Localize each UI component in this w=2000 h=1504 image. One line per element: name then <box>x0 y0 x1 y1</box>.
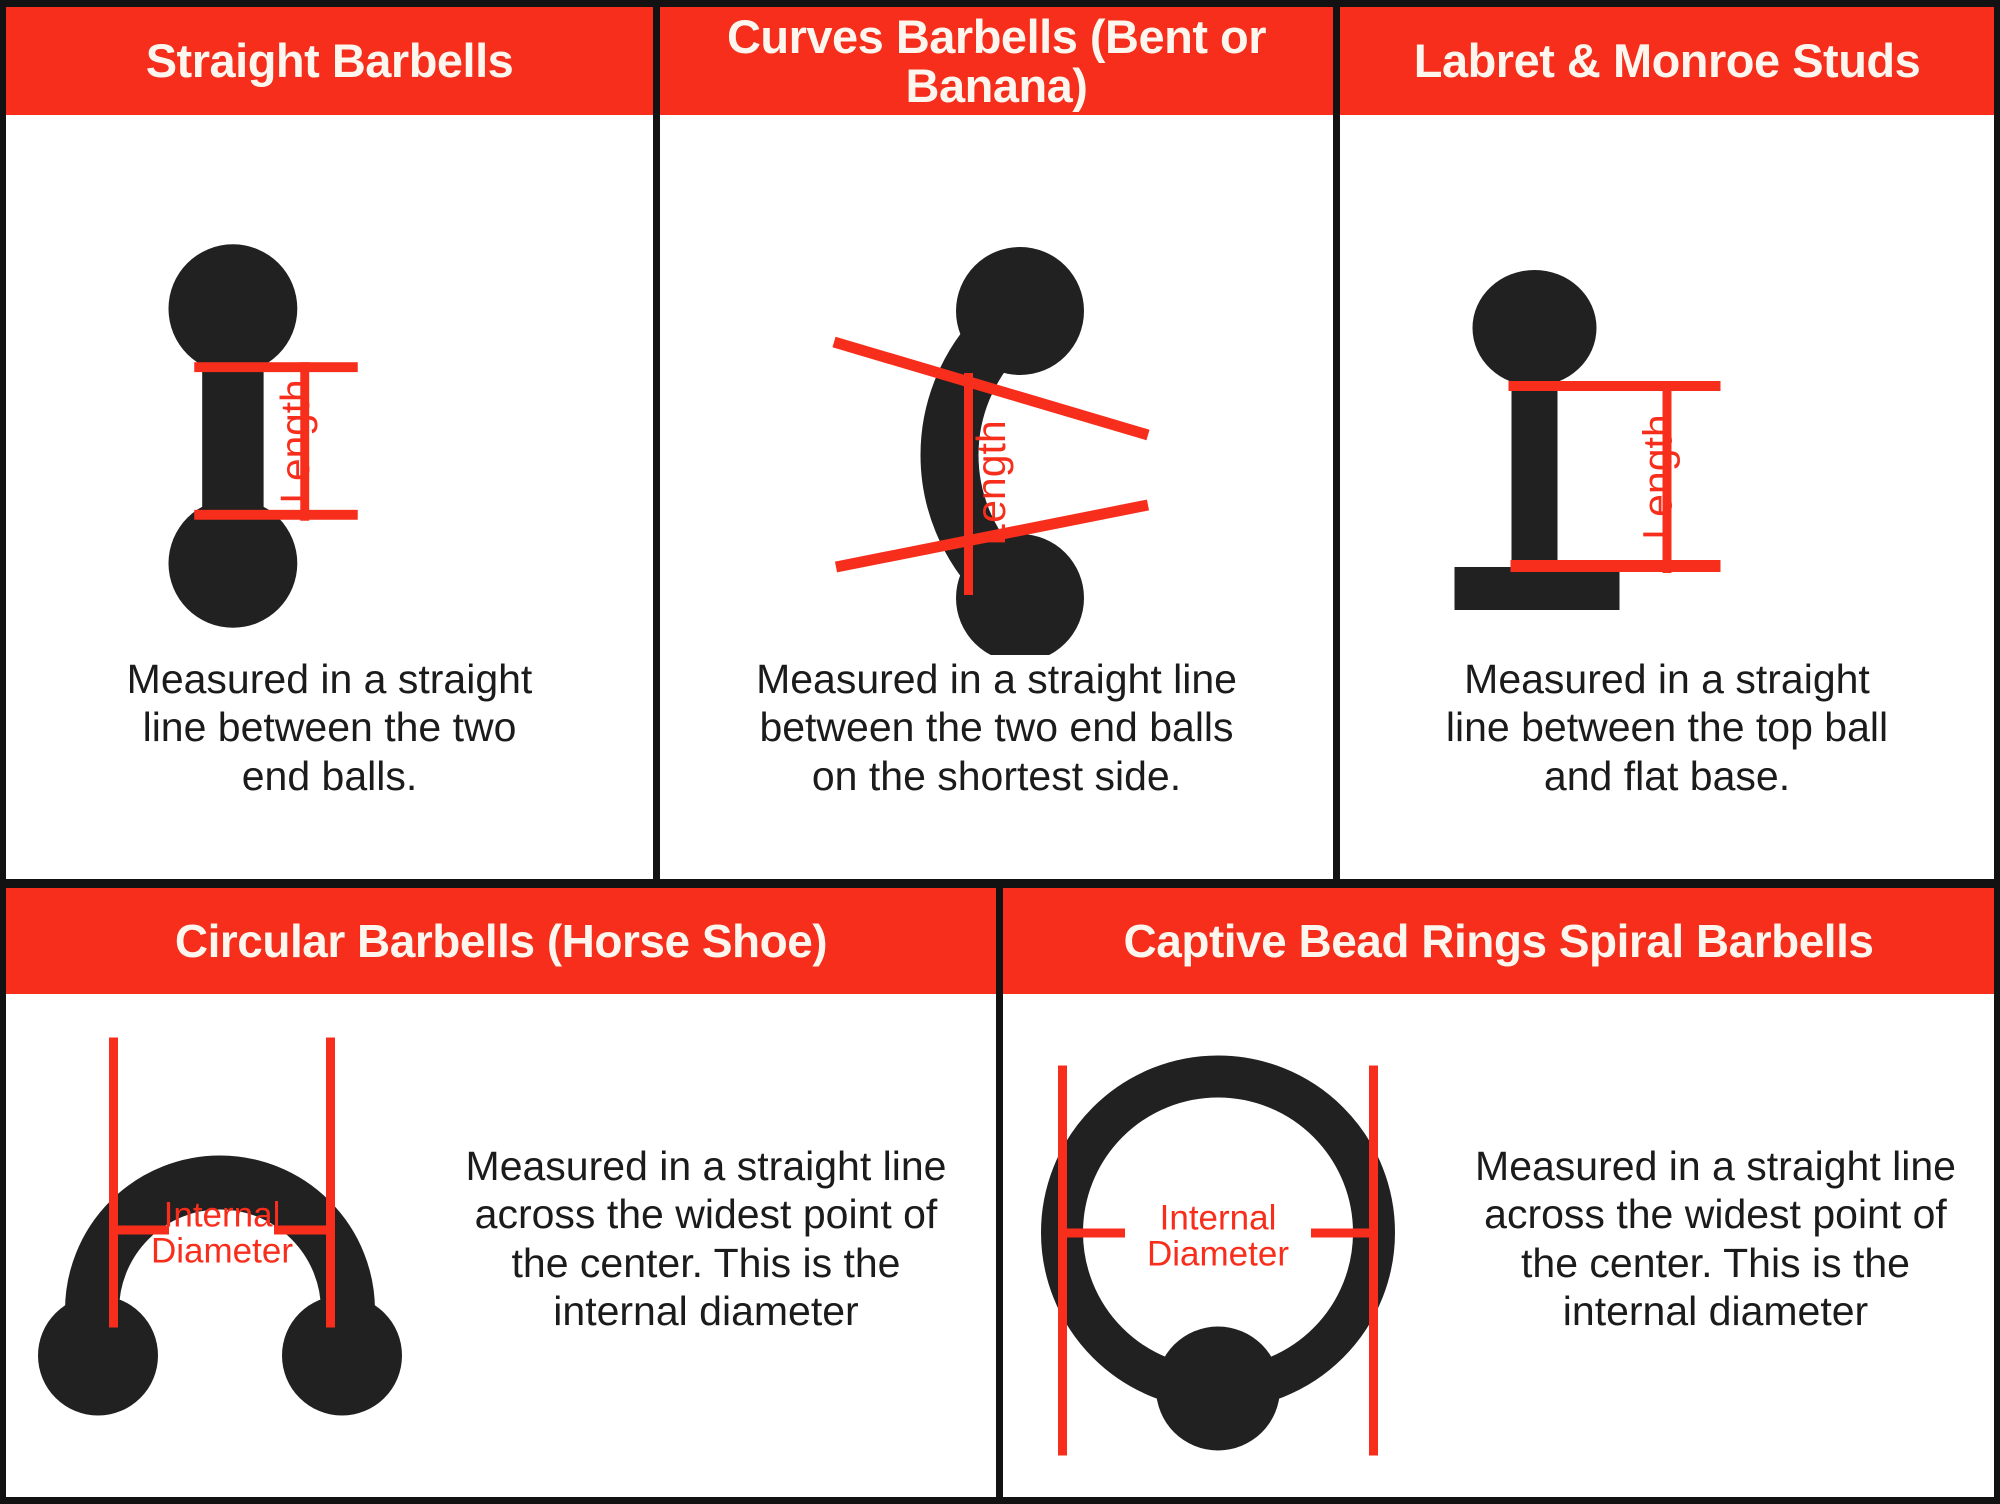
labret-flat-base-icon <box>1455 567 1620 610</box>
caption-line: line between the two <box>127 703 533 751</box>
diameter-label-line-2: Diameter <box>151 1232 293 1271</box>
caption-line: the center. This is the <box>512 1240 901 1286</box>
horseshoe-left-ball-icon <box>38 1296 158 1416</box>
diameter-label-line-1: Internal <box>1160 1199 1277 1238</box>
straight-barbell-diagram: Length <box>6 115 653 655</box>
caption-line: Measured in a <box>466 1143 726 1189</box>
horseshoe-barbell-diagram: Internal Diameter <box>6 994 436 1497</box>
dimension-label-length: Length <box>272 379 318 503</box>
panel-straight-barbells: Straight Barbells Length <box>0 7 660 879</box>
caption-straight-barbells: Measured in a straight line between the … <box>6 655 653 879</box>
dimension-label-length: Length <box>1635 414 1681 539</box>
caption-line: the center. This is <box>1521 1240 1842 1286</box>
caption-captive-bead-rings: Measured in a straight line across the w… <box>1433 1142 1994 1350</box>
caption-circular-barbells: Measured in a straight line across the w… <box>436 1142 996 1350</box>
panel-title-captive-bead-rings: Captive Bead Rings Spiral Barbells <box>1003 888 1994 994</box>
labret-stud-diagram: Length <box>1340 115 1994 655</box>
panel-title-curves-barbells: Curves Barbells (Bent or Banana) <box>660 7 1333 115</box>
top-row: Straight Barbells Length <box>0 0 2000 888</box>
diameter-right-extension-line <box>326 1038 335 1328</box>
diameter-label-line-2: Diameter <box>1147 1235 1289 1274</box>
panel-title-line-2: Monroe Studs <box>1613 34 1920 87</box>
caption-line: Measured in a <box>1475 1143 1735 1189</box>
panel-title-line-1: Labret & <box>1414 34 1601 87</box>
caption-labret-monroe-studs: Measured in a straight line between the … <box>1340 655 1994 879</box>
caption-line: Measured in a straight <box>1446 655 1888 703</box>
piercing-size-guide-infographic: Straight Barbells Length <box>0 0 2000 1504</box>
caption-line: the widest point of <box>1616 1191 1946 1237</box>
caption-line: Measured in a straight <box>127 655 533 703</box>
panel-circular-barbells: Circular Barbells (Horse Shoe) <box>0 888 1003 1497</box>
captive-bead-ring-diagram: Internal Diameter <box>1003 994 1433 1497</box>
dimension-top-extension-line <box>194 362 357 372</box>
panel-title-line-1: Curves Barbells <box>727 10 1077 63</box>
dimension-bottom-extension-line <box>194 510 357 520</box>
curved-barbell-diagram: Length <box>660 115 1333 655</box>
panel-title-straight-barbells: Straight Barbells <box>6 7 653 115</box>
panel-title-circular-barbells: Circular Barbells (Horse Shoe) <box>6 888 996 994</box>
dimension-top-extension-line <box>1509 381 1721 391</box>
dimension-label-length: Length <box>968 420 1014 545</box>
horseshoe-right-ball-icon <box>282 1296 402 1416</box>
panel-title-labret-monroe-studs: Labret & Monroe Studs <box>1340 7 1994 115</box>
caption-line: between the two end balls <box>756 703 1237 751</box>
diameter-right-arrow <box>1311 1229 1378 1238</box>
barbell-top-ball-icon <box>168 244 297 373</box>
diameter-right-extension-line <box>1369 1066 1378 1456</box>
labret-top-ball-icon <box>1473 270 1597 386</box>
caption-curves-barbells: Measured in a straight line between the … <box>660 655 1333 879</box>
captive-bead-icon <box>1156 1327 1280 1451</box>
panel-curves-barbells: Curves Barbells (Bent or Banana) <box>660 7 1340 879</box>
diameter-label-line-1: Internal <box>164 1196 281 1235</box>
diameter-left-extension-line <box>1058 1066 1067 1456</box>
caption-line: end balls. <box>127 752 533 800</box>
dimension-bottom-extension-line <box>1511 560 1721 572</box>
caption-line: on the shortest side. <box>756 752 1237 800</box>
barbell-top-ball-icon <box>956 247 1084 375</box>
caption-line: and flat base. <box>1446 752 1888 800</box>
caption-line: line between the top ball <box>1446 703 1888 751</box>
panel-captive-bead-rings: Captive Bead Rings Spiral Barbells <box>1003 888 2000 1497</box>
caption-line: Measured in a straight line <box>756 655 1237 703</box>
bottom-row: Circular Barbells (Horse Shoe) <box>0 888 2000 1504</box>
caption-line: internal diameter <box>553 1288 858 1334</box>
diameter-left-extension-line <box>109 1038 118 1328</box>
caption-line: the widest point of <box>607 1191 937 1237</box>
diameter-left-arrow <box>1058 1229 1125 1238</box>
panel-labret-monroe-studs: Labret & Monroe Studs <box>1340 7 2000 879</box>
